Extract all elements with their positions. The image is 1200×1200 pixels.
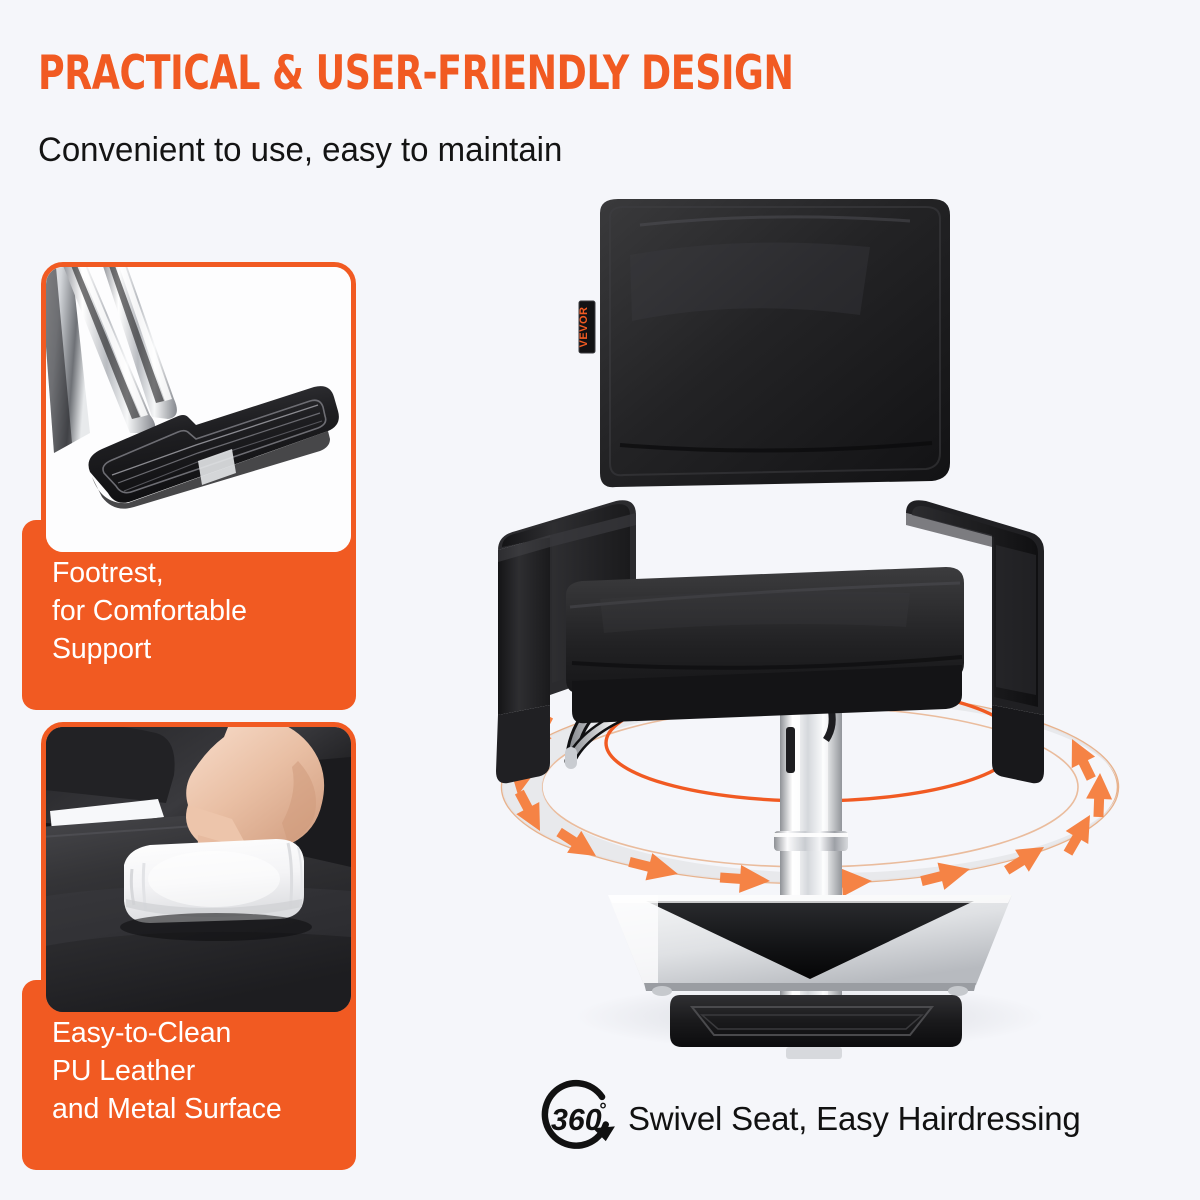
white-towel xyxy=(124,839,304,923)
feature-clean-card xyxy=(41,722,356,1017)
caption-line: Support xyxy=(52,630,356,668)
page-title: PRACTICAL & USER-FRIENDLY DESIGN xyxy=(38,46,793,101)
caption-line: for Comfortable xyxy=(52,592,356,630)
rotation-360-icon: 360 ° xyxy=(534,1073,626,1165)
caption-line: and Metal Surface xyxy=(52,1090,356,1128)
foot-pedal xyxy=(670,995,962,1059)
footrest-closeup-image xyxy=(46,267,351,552)
chair-back-cushion xyxy=(600,199,950,487)
feature-footrest-card xyxy=(41,262,356,557)
page-subtitle: Convenient to use, easy to maintain xyxy=(38,131,562,170)
badge-degree-symbol: ° xyxy=(599,1098,606,1119)
product-image: VEVOR xyxy=(440,195,1180,1095)
swivel-badge: 360 ° Swivel Seat, Easy Hairdressing xyxy=(534,1073,1081,1165)
cleaning-demo-image xyxy=(46,727,351,1012)
caption-line: Footrest, xyxy=(52,554,356,592)
badge-degrees-text: 360 xyxy=(551,1104,602,1137)
svg-text:VEVOR: VEVOR xyxy=(578,306,590,347)
brand-tag: VEVOR xyxy=(578,301,595,353)
chair-base-plate xyxy=(608,895,1012,996)
caption-line: Easy-to-Clean xyxy=(52,1014,356,1052)
promo-banner: PRACTICAL & USER-FRIENDLY DESIGN Conveni… xyxy=(0,0,1200,1200)
caption-line: PU Leather xyxy=(52,1052,356,1090)
swivel-badge-label: Swivel Seat, Easy Hairdressing xyxy=(628,1100,1081,1138)
